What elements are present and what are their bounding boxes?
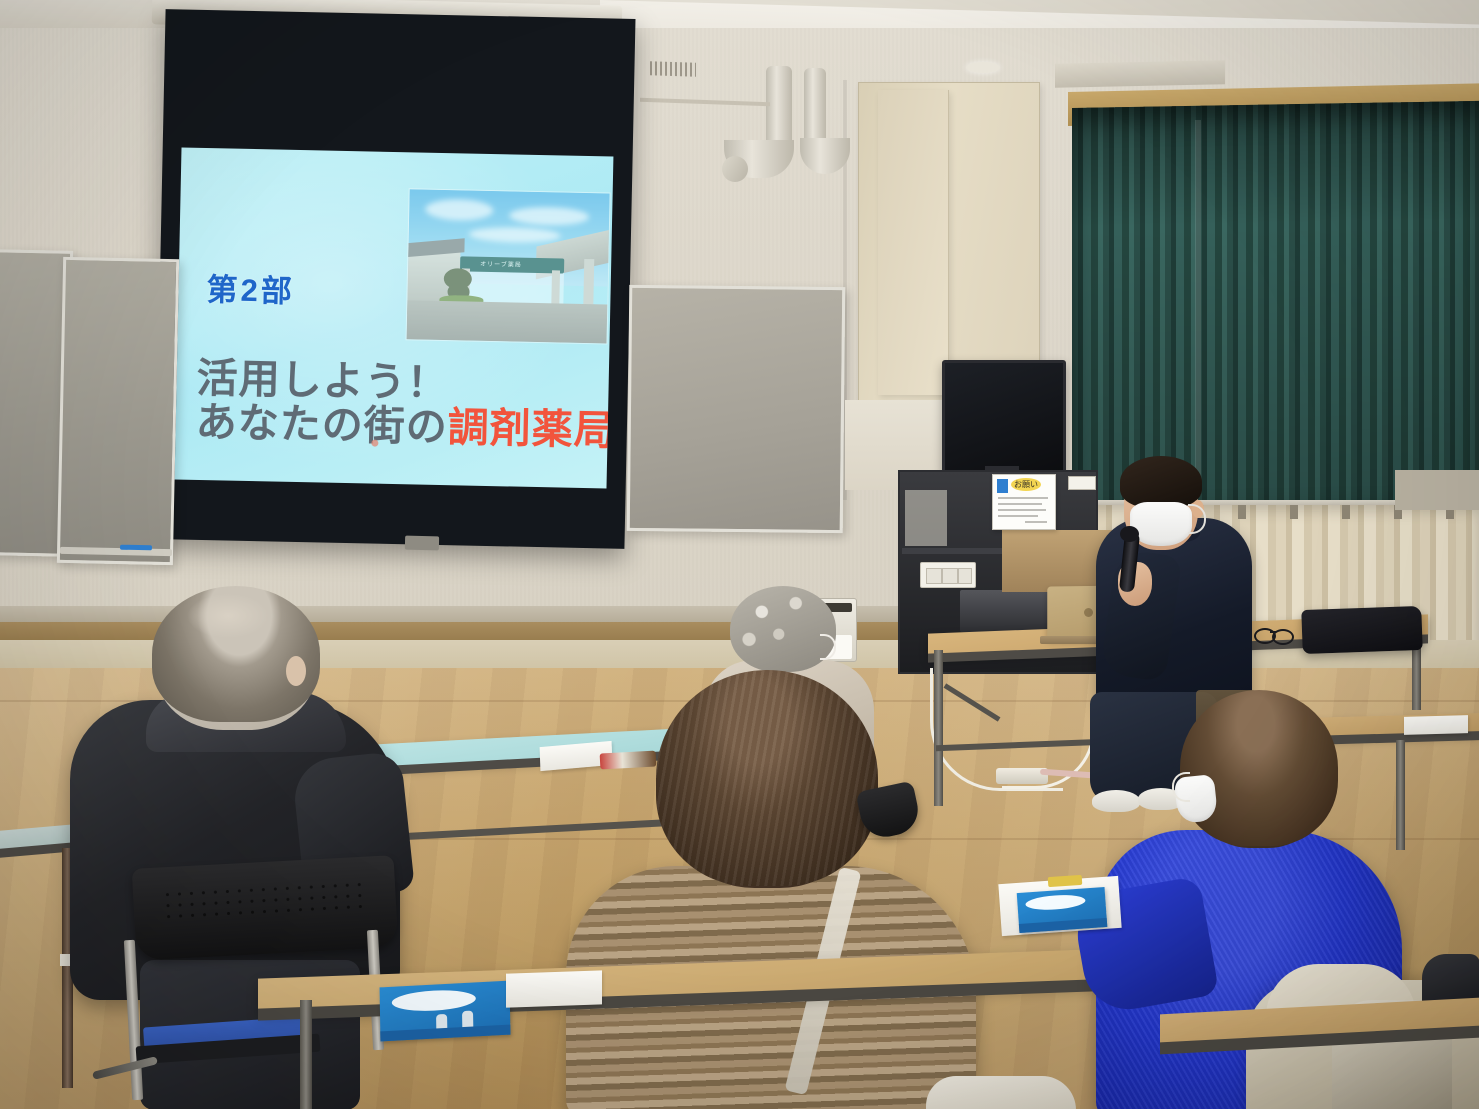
slide-pharmacy-photo: オリーブ薬局 [406,188,611,344]
wall-cabinet-door-left[interactable] [878,90,949,395]
audience-left-ear [286,656,306,686]
flat-screen-tv[interactable] [942,360,1066,474]
slide-part-label: 第2部 [206,264,295,311]
notice-text-line-3 [998,509,1046,511]
light-switch-rocker-2[interactable] [942,568,958,584]
audience-brown-stripe [556,640,986,1109]
front-table-paper[interactable] [506,970,602,1007]
slide-headline-highlight: 調剤薬局 [447,404,613,454]
presenter-hair [1120,456,1202,508]
blue-sweater-hair [1180,690,1338,846]
notice-text-line-5 [1025,521,1047,523]
seminar-room-photo: オリーブ薬局 第2部 活用しよう！ あなたの街の調剤薬局 [0,0,1479,1109]
av-rack-panel [905,490,947,546]
brochure-right-table[interactable] [1017,887,1108,933]
notice-text-line-1 [998,497,1048,499]
ceiling-pipe-2 [804,68,826,146]
black-bag[interactable] [1301,606,1422,654]
bottom-white-object [926,1076,1076,1109]
light-switch-plate[interactable] [920,562,976,588]
slide-headline-plain: あなたの街の [195,399,448,450]
blue-sweater-mask-strap [1172,772,1190,802]
ceiling-pipe-cap [722,156,748,182]
notice-text-line-2 [998,503,1042,505]
green-curtain-fold-highlight [1195,120,1201,495]
tv-screen [945,363,1063,471]
whiteboard-center [627,285,846,533]
whiteboard-left-panel-2 [57,257,179,565]
brown-stripe-hair-strands [656,670,878,886]
photo-wash [407,189,610,343]
whiteboard-marker-blue[interactable] [120,545,152,551]
notice-text-line-4 [998,515,1038,517]
brochure-right-title-oval [1025,893,1086,911]
slide-surface: オリーブ薬局 第2部 活用しよう！ あなたの街の調剤薬局 [175,148,614,489]
front-table-leg [300,1000,312,1109]
notice-sign: お願い [992,474,1056,530]
audience-left-bald-spot [188,594,268,638]
brochure-front-table[interactable] [380,981,511,1042]
notice-icon [997,479,1008,493]
ceiling-duct [1055,60,1225,88]
ceiling-vent-grille [650,61,696,77]
microphone-head [1120,526,1139,542]
ceiling-downlight [966,62,1000,73]
notice-badge-text: お願い [1014,479,1038,490]
brochure-front-title-oval [392,988,476,1012]
window-frame-sliver [1395,470,1479,510]
projector-screen-weight-bar [405,536,439,551]
light-switch-rocker-3[interactable] [958,568,972,584]
slide-headline-line2: あなたの街の調剤薬局 [195,388,613,457]
light-switch-rocker-1[interactable] [926,568,942,584]
